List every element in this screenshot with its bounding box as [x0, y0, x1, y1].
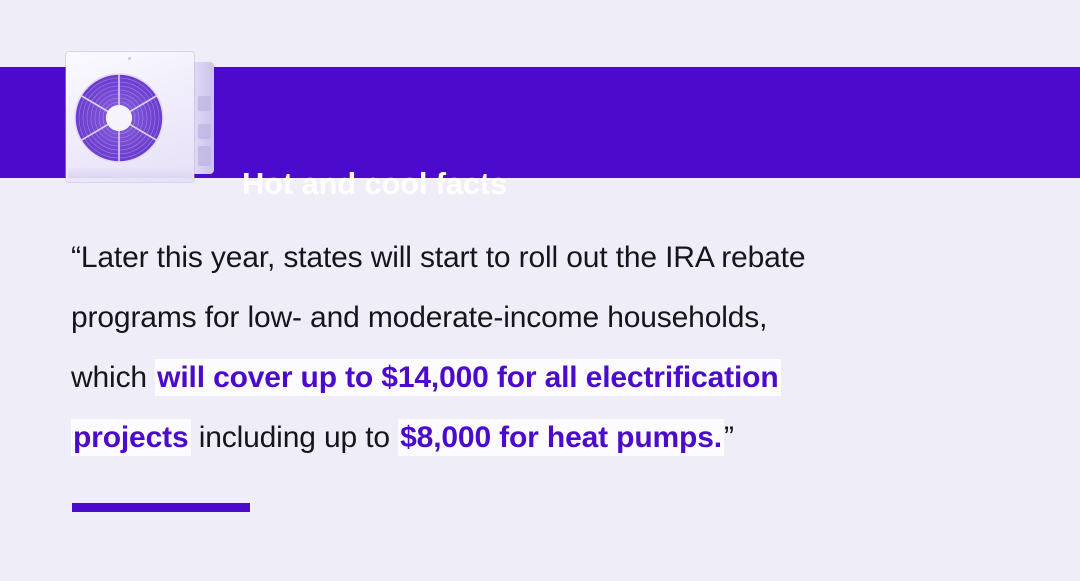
heat-pump-vent [198, 124, 211, 139]
infographic-card: Hot and cool facts [0, 0, 1080, 581]
heat-pump-screw [128, 173, 131, 176]
quote-line-3: which will cover up to $14,000 for all e… [71, 348, 1011, 408]
quote-line-4: projects including up to $8,000 for heat… [71, 408, 1011, 468]
heat-pump-vent [198, 146, 211, 166]
quote-highlight-amount-14000: will cover up to $14,000 for all electri… [155, 359, 780, 396]
accent-rule [72, 503, 250, 512]
heat-pump-screw [75, 173, 78, 176]
heat-pump-fan-icon [72, 71, 166, 165]
quote-highlight-projects: projects [71, 419, 191, 456]
quote-line-1: “Later this year, states will start to r… [71, 228, 1011, 288]
heat-pump-side-panel [192, 62, 214, 174]
quote-segment-plain: which [71, 361, 155, 394]
heat-pump-body [66, 52, 194, 182]
heat-pump-screw [181, 173, 184, 176]
quote-segment-plain: programs for low- and moderate-income ho… [71, 301, 767, 334]
banner-title: Hot and cool facts [242, 168, 507, 199]
heat-pump-vent [198, 96, 211, 111]
quote-segment-plain: including up to [191, 421, 399, 454]
quote-segment-plain: “Later this year, states will start to r… [71, 241, 805, 274]
quote-text: “Later this year, states will start to r… [71, 228, 1011, 468]
heat-pump-icon [66, 52, 214, 184]
heat-pump-screw [128, 57, 131, 60]
quote-highlight-amount-8000: $8,000 for heat pumps. [398, 419, 724, 456]
quote-closing-quotation-mark: ” [724, 421, 734, 454]
quote-line-2: programs for low- and moderate-income ho… [71, 288, 1011, 348]
